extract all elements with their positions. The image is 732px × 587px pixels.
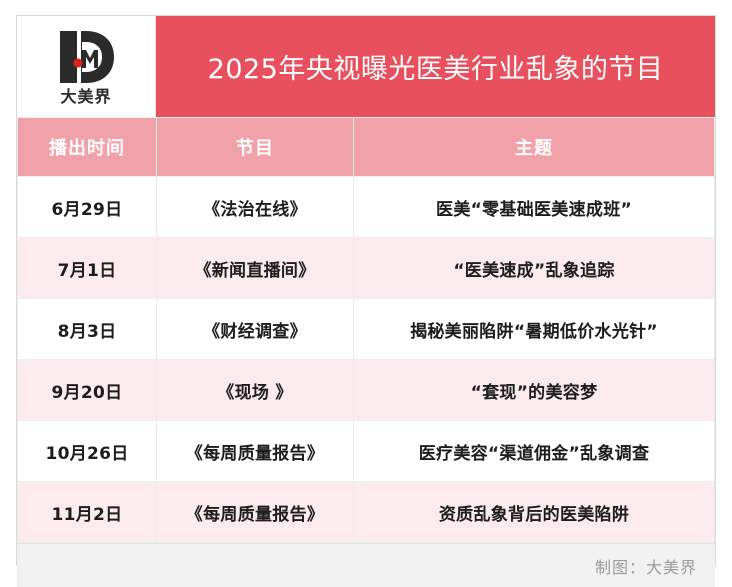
table-row: 11月2日 《每周质量报告》 资质乱象背后的医美陷阱 xyxy=(18,482,715,543)
table-header-row: 播出时间 节目 主题 xyxy=(18,118,715,177)
column-header-program: 节目 xyxy=(157,118,354,177)
page-title: 2025年央视曝光医美行业乱象的节目 xyxy=(208,47,664,86)
cell-topic: “医美速成”乱象追踪 xyxy=(354,238,715,299)
column-header-topic: 主题 xyxy=(354,118,715,177)
cell-topic: 医美“零基础医美速成班” xyxy=(354,177,715,238)
broadcast-schedule-table: 播出时间 节目 主题 6月29日 《法治在线》 医美“零基础医美速成班” 7月1… xyxy=(17,117,715,543)
table-row: 6月29日 《法治在线》 医美“零基础医美速成班” xyxy=(18,177,715,238)
cell-airdate: 8月3日 xyxy=(18,299,157,360)
cell-program: 《法治在线》 xyxy=(157,177,354,238)
column-header-airdate: 播出时间 xyxy=(18,118,157,177)
cell-program: 《财经调查》 xyxy=(157,299,354,360)
credit-label: 制图：大美界 xyxy=(595,554,697,578)
cell-program: 《新闻直播间》 xyxy=(157,238,354,299)
cell-airdate: 11月2日 xyxy=(18,482,157,543)
cell-program: 《每周质量报告》 xyxy=(157,482,354,543)
cell-topic: 揭秘美丽陷阱“暑期低价水光针” xyxy=(354,299,715,360)
cell-topic: 医疗美容“渠道佣金”乱象调查 xyxy=(354,421,715,482)
title-bar: 2025年央视曝光医美行业乱象的节目 xyxy=(156,16,715,117)
footer-band: 制图：大美界 xyxy=(17,543,715,587)
header-band: 大美界 2025年央视曝光医美行业乱象的节目 xyxy=(17,16,715,117)
brand-wordmark: 大美界 xyxy=(60,89,111,105)
table-row: 8月3日 《财经调查》 揭秘美丽陷阱“暑期低价水光针” xyxy=(18,299,715,360)
table-row: 9月20日 《现场 》 “套现”的美容梦 xyxy=(18,360,715,421)
table-row: 10月26日 《每周质量报告》 医疗美容“渠道佣金”乱象调查 xyxy=(18,421,715,482)
cell-topic: “套现”的美容梦 xyxy=(354,360,715,421)
cell-topic: 资质乱象背后的医美陷阱 xyxy=(354,482,715,543)
cell-airdate: 6月29日 xyxy=(18,177,157,238)
cell-program: 《每周质量报告》 xyxy=(157,421,354,482)
cell-airdate: 9月20日 xyxy=(18,360,157,421)
cell-program: 《现场 》 xyxy=(157,360,354,421)
infographic-card: 大美界 2025年央视曝光医美行业乱象的节目 播出时间 节目 主题 6月29日 … xyxy=(16,15,716,566)
dm-monogram-logo-icon xyxy=(52,28,120,86)
cell-airdate: 10月26日 xyxy=(18,421,157,482)
cell-airdate: 7月1日 xyxy=(18,238,157,299)
table-row: 7月1日 《新闻直播间》 “医美速成”乱象追踪 xyxy=(18,238,715,299)
brand-logo-cell: 大美界 xyxy=(17,16,156,117)
